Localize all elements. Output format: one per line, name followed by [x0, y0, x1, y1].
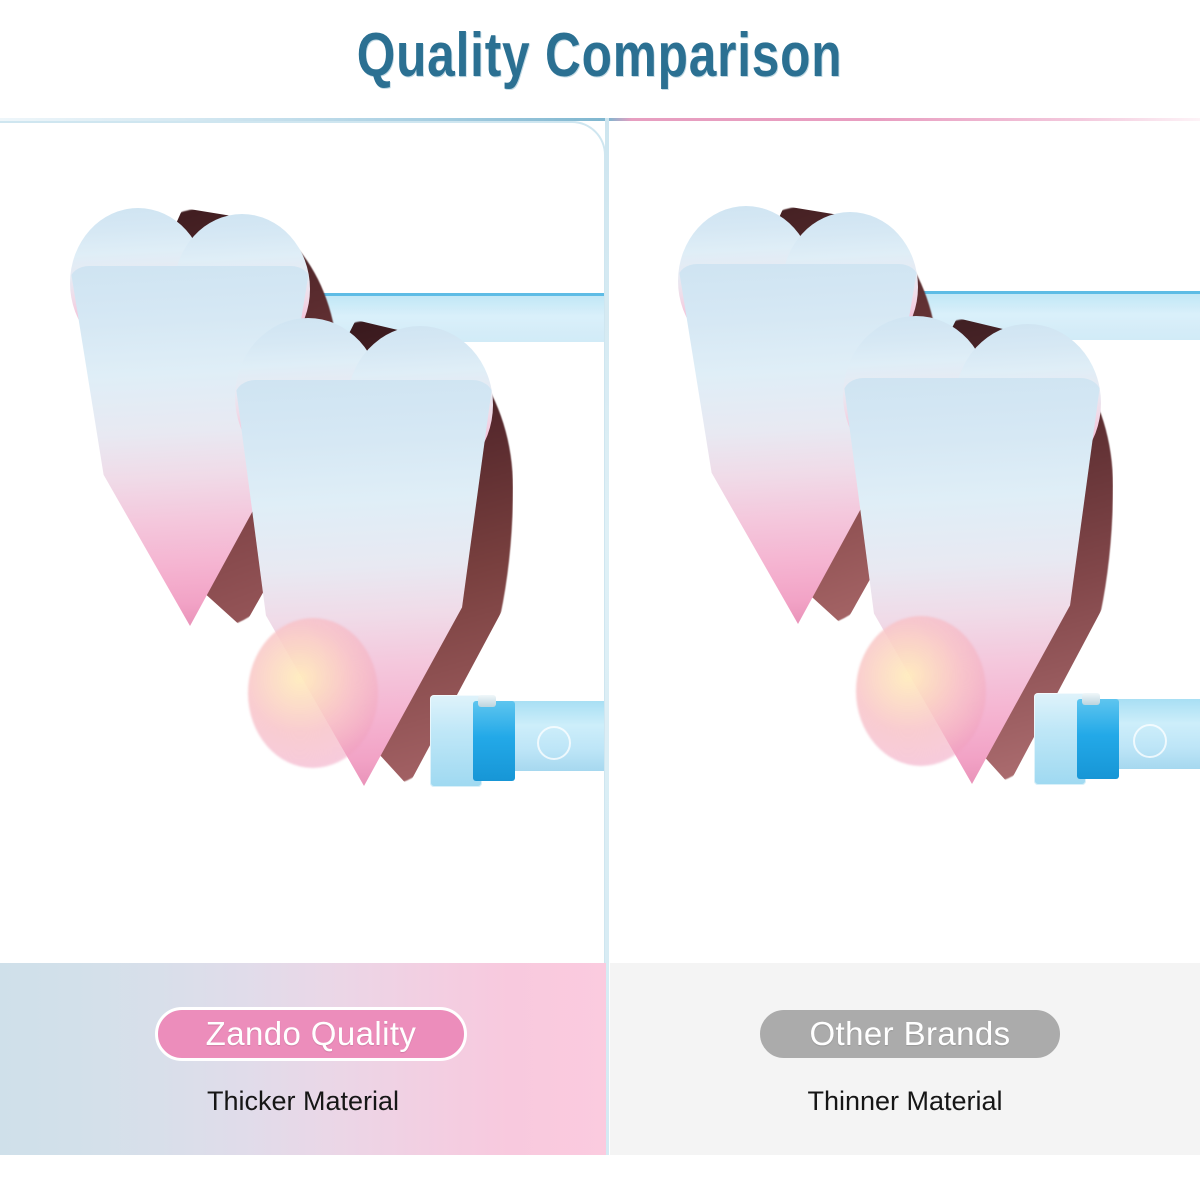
badge-zando-quality[interactable]: Zando Quality	[155, 1007, 467, 1061]
lens-inner-reflection-left	[248, 618, 378, 768]
caption-thicker-material: Thicker Material	[0, 1086, 606, 1117]
title-bar: Quality Comparison	[0, 0, 1200, 112]
hinge-core-right	[1077, 699, 1119, 779]
page-title: Quality Comparison	[357, 25, 843, 87]
bottom-white-strip	[0, 1155, 1200, 1200]
badge-other-brands[interactable]: Other Brands	[757, 1007, 1063, 1061]
hinge-screw-left	[478, 695, 496, 707]
hinge-screw-right	[1082, 693, 1100, 705]
lens-inner-reflection-right	[856, 616, 986, 766]
product-photo-right	[610, 121, 1200, 963]
panel-other-brands	[610, 121, 1200, 963]
caption-thinner-material: Thinner Material	[610, 1086, 1200, 1117]
hinge-core-left	[473, 701, 515, 781]
panel-zando-quality	[0, 121, 606, 963]
comparison-infographic: Quality Comparison	[0, 0, 1200, 1200]
product-photo-left	[0, 123, 604, 963]
